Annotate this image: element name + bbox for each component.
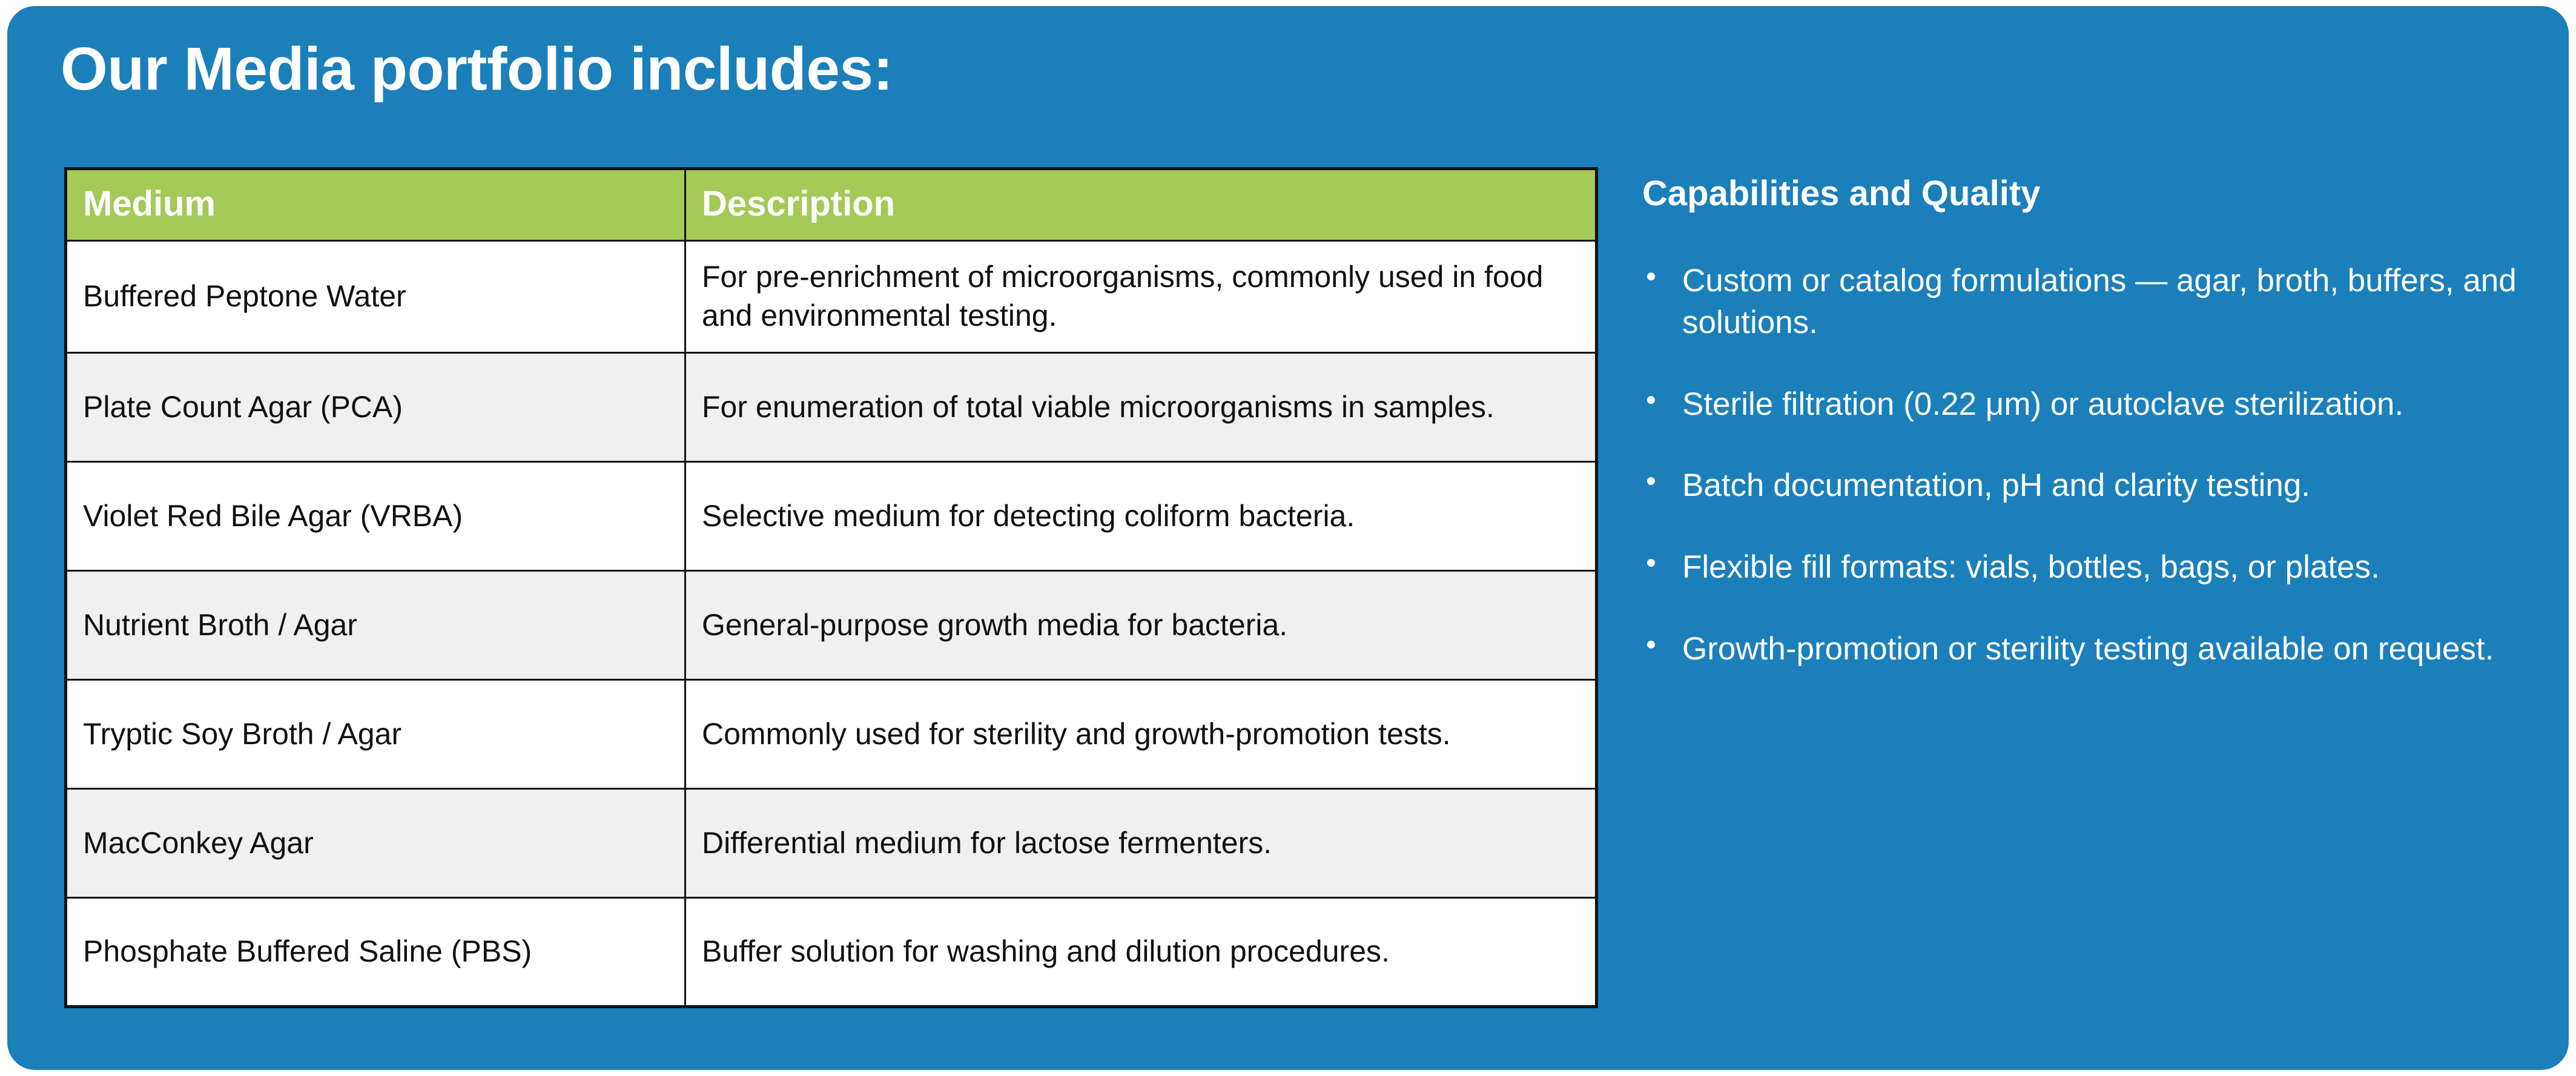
cell-description: Selective medium for detecting coliform …: [685, 462, 1597, 571]
cell-description: For enumeration of total viable microorg…: [685, 353, 1597, 462]
capabilities-heading: Capabilities and Quality: [1642, 174, 2526, 213]
cell-medium: Nutrient Broth / Agar: [66, 571, 685, 680]
list-item-label: Batch documentation, pH and clarity test…: [1682, 467, 2310, 503]
cell-medium: Plate Count Agar (PCA): [66, 353, 685, 462]
cell-description: Differential medium for lactose fermente…: [685, 789, 1597, 898]
table-header-row: Medium Description: [66, 169, 1597, 241]
cell-description: Buffer solution for washing and dilution…: [685, 898, 1597, 1007]
list-item: Growth-promotion or sterility testing av…: [1642, 629, 2526, 670]
table-row: MacConkey Agar Differential medium for l…: [66, 789, 1597, 898]
cell-description: Commonly used for sterility and growth-p…: [685, 680, 1597, 789]
cell-medium: Tryptic Soy Broth / Agar: [66, 680, 685, 789]
capabilities-list: Custom or catalog formulations — agar, b…: [1642, 260, 2526, 670]
cell-medium: Buffered Peptone Water: [66, 241, 685, 353]
bullet-icon: [1647, 396, 1655, 404]
list-item-label: Flexible fill formats: vials, bottles, b…: [1682, 549, 2380, 585]
list-item: Flexible fill formats: vials, bottles, b…: [1642, 547, 2526, 589]
capabilities-panel: Capabilities and Quality Custom or catal…: [1642, 174, 2526, 670]
cell-medium: MacConkey Agar: [66, 789, 685, 898]
bullet-icon: [1647, 641, 1655, 649]
media-portfolio-card: Our Media portfolio includes: Medium Des…: [7, 6, 2569, 1070]
bullet-icon: [1647, 272, 1655, 280]
table-row: Nutrient Broth / Agar General-purpose gr…: [66, 571, 1597, 680]
list-item-label: Sterile filtration (0.22 μm) or autoclav…: [1682, 386, 2403, 422]
list-item: Batch documentation, pH and clarity test…: [1642, 465, 2526, 507]
bullet-icon: [1647, 559, 1655, 567]
media-table-container: Medium Description Buffered Peptone Wate…: [64, 167, 1595, 1008]
list-item: Sterile filtration (0.22 μm) or autoclav…: [1642, 384, 2526, 426]
table-row: Tryptic Soy Broth / Agar Commonly used f…: [66, 680, 1597, 789]
table-row: Buffered Peptone Water For pre-enrichmen…: [66, 241, 1597, 353]
page-title: Our Media portfolio includes:: [61, 38, 893, 101]
cell-description: For pre-enrichment of microorganisms, co…: [685, 241, 1597, 353]
table-row: Phosphate Buffered Saline (PBS) Buffer s…: [66, 898, 1597, 1007]
list-item-label: Custom or catalog formulations — agar, b…: [1682, 263, 2517, 340]
media-table: Medium Description Buffered Peptone Wate…: [64, 167, 1598, 1008]
column-header-medium: Medium: [66, 169, 685, 241]
column-header-description: Description: [685, 169, 1597, 241]
bullet-icon: [1647, 477, 1655, 485]
table-row: Plate Count Agar (PCA) For enumeration o…: [66, 353, 1597, 462]
list-item-label: Growth-promotion or sterility testing av…: [1682, 631, 2494, 667]
cell-medium: Violet Red Bile Agar (VRBA): [66, 462, 685, 571]
table-row: Violet Red Bile Agar (VRBA) Selective me…: [66, 462, 1597, 571]
list-item: Custom or catalog formulations — agar, b…: [1642, 260, 2526, 344]
cell-medium: Phosphate Buffered Saline (PBS): [66, 898, 685, 1007]
cell-description: General-purpose growth media for bacteri…: [685, 571, 1597, 680]
